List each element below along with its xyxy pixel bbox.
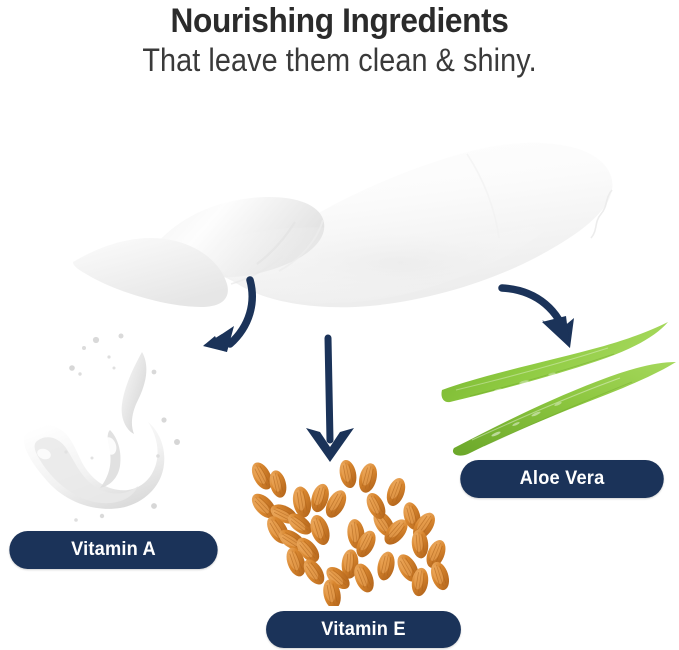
ingredients-infographic: Nourishing Ingredients That leave them c… bbox=[0, 0, 679, 650]
label-pill-aloe-vera[interactable]: Aloe Vera bbox=[460, 460, 664, 498]
curved-arrow-down-left-icon bbox=[182, 272, 282, 377]
label-pill-vitamin-a[interactable]: Vitamin A bbox=[9, 531, 217, 569]
label-pill-vitamin-a-text: Vitamin A bbox=[71, 539, 156, 561]
heading-block: Nourishing Ingredients That leave them c… bbox=[0, 0, 679, 78]
almonds-icon bbox=[240, 458, 472, 606]
aloe-leaves-icon bbox=[436, 312, 679, 462]
page-subtitle: That leave them clean & shiny. bbox=[34, 40, 645, 78]
curved-arrow-down-right-icon bbox=[492, 276, 597, 364]
wipe-cloth-icon bbox=[55, 118, 635, 308]
label-pill-vitamin-e[interactable]: Vitamin E bbox=[266, 611, 461, 648]
straight-arrow-down-icon bbox=[296, 332, 364, 470]
page-title: Nourishing Ingredients bbox=[24, 0, 655, 40]
label-pill-aloe-vera-text: Aloe Vera bbox=[520, 468, 605, 490]
label-pill-vitamin-e-text: Vitamin E bbox=[321, 619, 406, 641]
milk-splash-icon bbox=[14, 330, 219, 525]
